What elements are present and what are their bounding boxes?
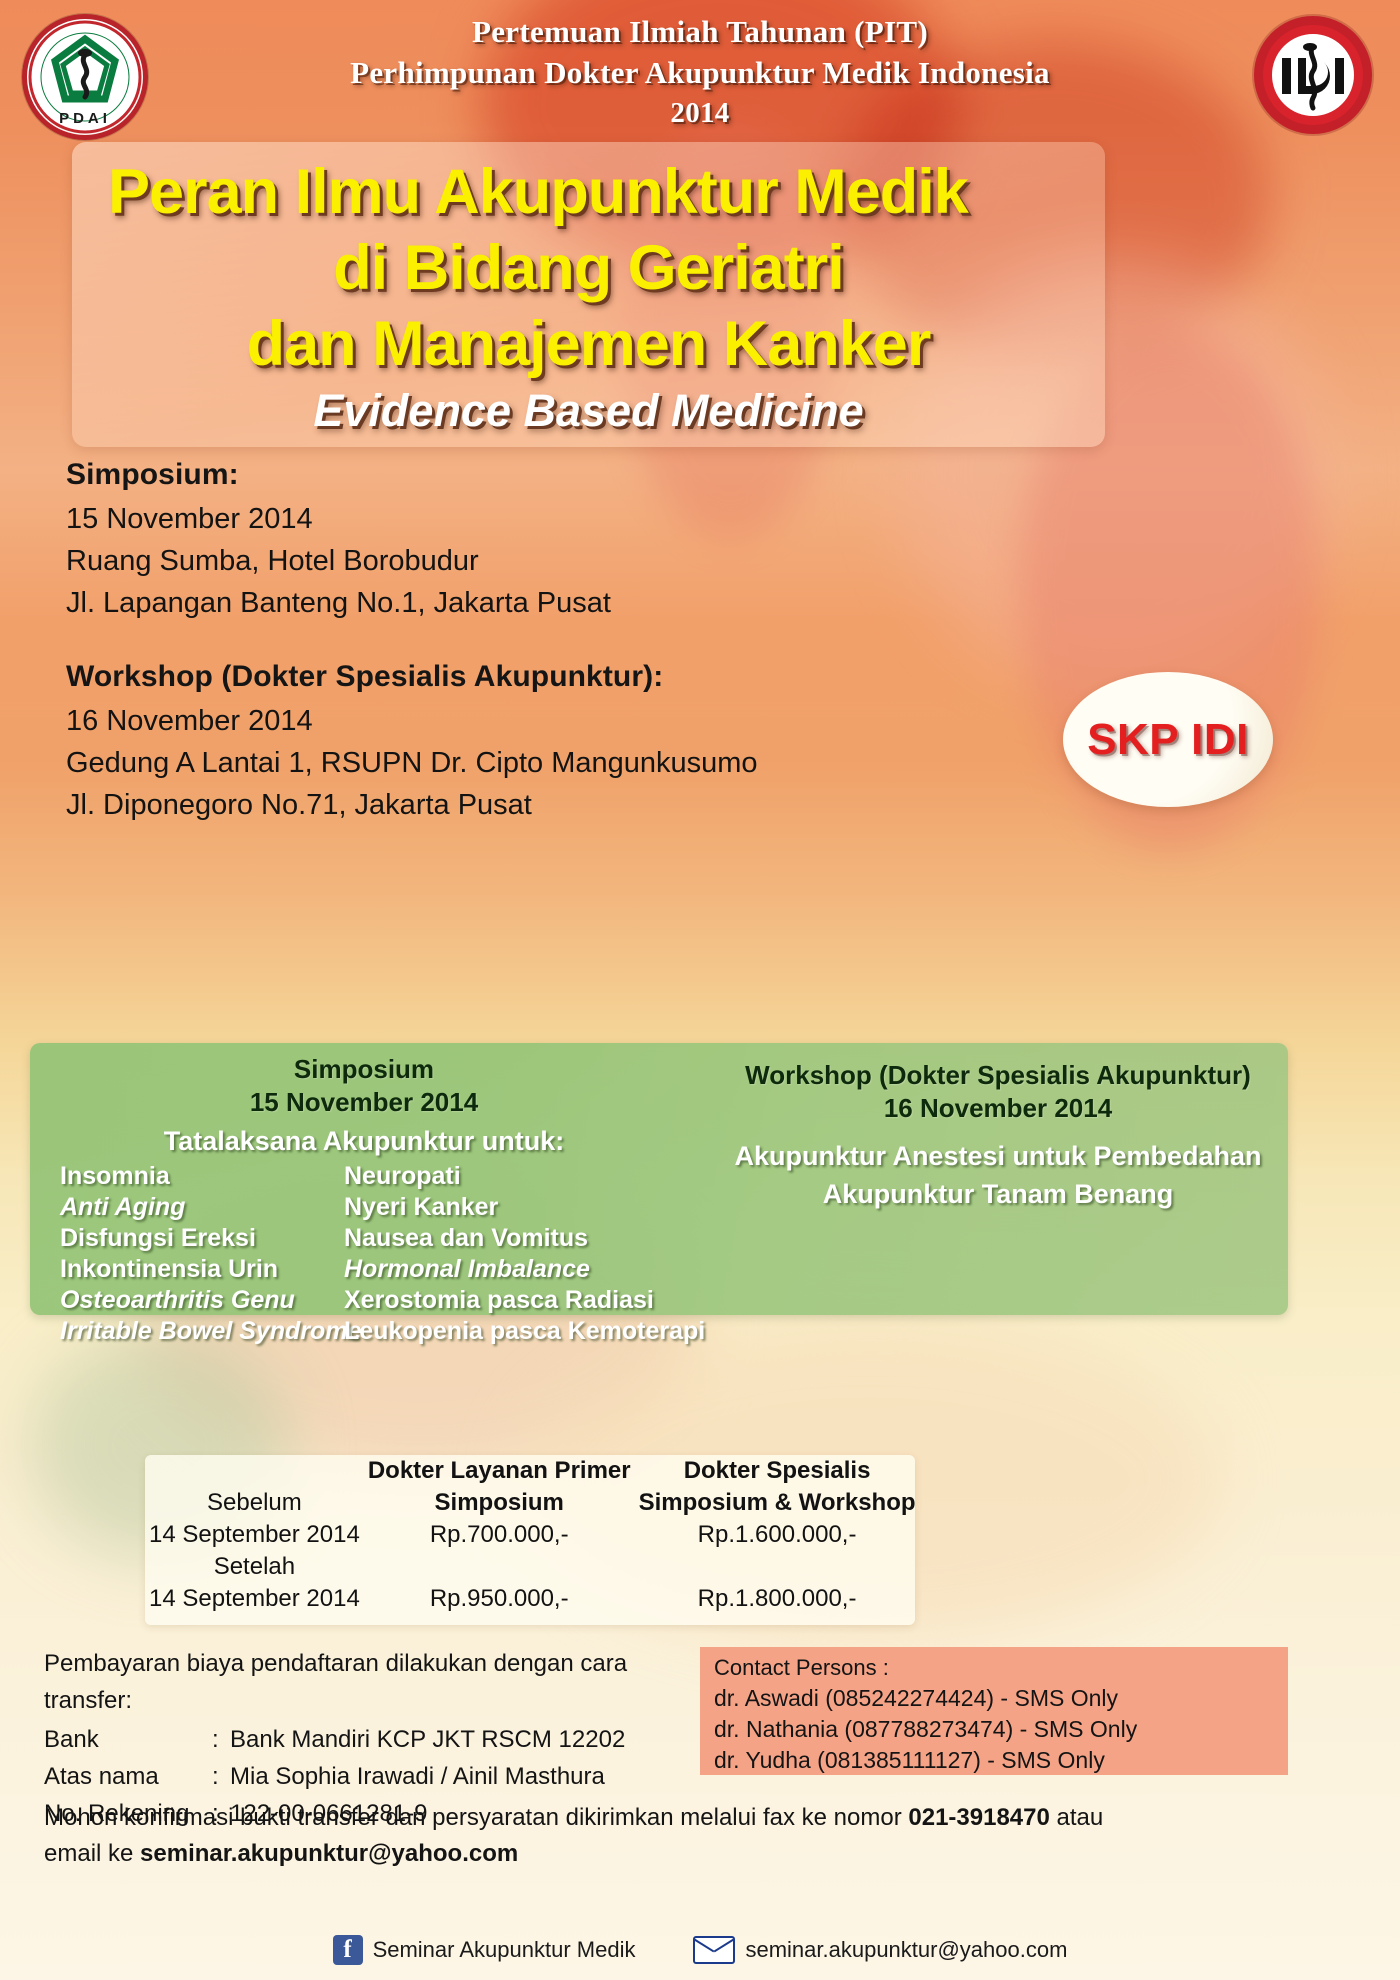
header-text-block: Pertemuan Ilmiah Tahunan (PIT) Perhimpun…	[170, 12, 1230, 132]
facebook-label: Seminar Akupunktur Medik	[373, 1937, 636, 1963]
table-row: Setelah	[145, 1551, 920, 1583]
payment-key-name: Atas nama	[44, 1758, 212, 1795]
price-row-2-period-label: Setelah	[145, 1551, 364, 1583]
envelope-icon[interactable]	[693, 1936, 735, 1964]
price-row-1-spesialis: Rp.1.600.000,-	[635, 1519, 920, 1551]
note-fax-number: 021-3918470	[908, 1804, 1049, 1831]
event-workshop-date: 16 November 2014	[66, 700, 966, 742]
facebook-icon[interactable]: f	[333, 1935, 363, 1965]
topics-workshop-title: Workshop (Dokter Spesialis Akupunktur)	[718, 1059, 1278, 1092]
confirmation-note-line-1: Mohon konfirmasi bukti transfer dan pers…	[44, 1800, 1334, 1836]
contact-heading: Contact Persons :	[714, 1653, 1274, 1683]
price-row-2-spesialis: Rp.1.800.000,-	[635, 1583, 920, 1615]
note-part-3: email ke	[44, 1840, 140, 1867]
contact-item: dr. Nathania (087788273474) - SMS Only	[714, 1714, 1274, 1745]
pdai-logo: PDAI	[22, 14, 148, 140]
payment-sep-name: :	[212, 1758, 230, 1795]
topics-symposium-col-1: Insomnia Anti Aging Disfungsi Ereksi Ink…	[44, 1161, 344, 1347]
topics-panel: Simposium 15 November 2014 Tatalaksana A…	[30, 1043, 1288, 1315]
price-row-2-primer: Rp.950.000,-	[364, 1583, 635, 1615]
note-part-2: atau	[1050, 1804, 1103, 1831]
event-workshop-heading: Workshop (Dokter Spesialis Akupunktur):	[66, 654, 966, 700]
topic-item: Nausea dan Vomitus	[344, 1223, 684, 1254]
topic-item: Hormonal Imbalance	[344, 1254, 684, 1285]
topic-item: Disfungsi Ereksi	[60, 1223, 344, 1254]
table-row: Dokter Layanan Primer Dokter Spesialis	[145, 1455, 920, 1487]
event-details: Simposium: 15 November 2014 Ruang Sumba,…	[66, 452, 966, 826]
price-header-spesialis-1: Dokter Spesialis	[635, 1455, 920, 1487]
event-workshop-address: Jl. Diponegoro No.71, Jakarta Pusat	[66, 784, 966, 826]
topics-symposium-title: Simposium	[44, 1053, 684, 1086]
header-line-1: Pertemuan Ilmiah Tahunan (PIT)	[170, 12, 1230, 52]
topic-item: Xerostomia pasca Radiasi	[344, 1285, 684, 1316]
payment-key-bank: Bank	[44, 1721, 212, 1758]
contact-item: dr. Aswadi (085242274424) - SMS Only	[714, 1683, 1274, 1714]
event-simposium-date: 15 November 2014	[66, 498, 966, 540]
title-panel: Peran Ilmu Akupunktur Medik di Bidang Ge…	[72, 142, 1105, 447]
confirmation-note-line-2: email ke seminar.akupunktur@yahoo.com	[44, 1836, 1334, 1872]
email-label: seminar.akupunktur@yahoo.com	[745, 1937, 1067, 1963]
contact-item: dr. Yudha (081385111127) - SMS Only	[714, 1745, 1274, 1776]
price-header-primer-1: Dokter Layanan Primer	[364, 1455, 635, 1487]
topic-item: Irritable Bowel Syndrome	[60, 1316, 344, 1347]
topics-symposium: Simposium 15 November 2014 Tatalaksana A…	[44, 1053, 684, 1347]
topics-symposium-columns: Insomnia Anti Aging Disfungsi Ereksi Ink…	[44, 1161, 684, 1347]
event-simposium-venue: Ruang Sumba, Hotel Borobudur	[66, 540, 966, 582]
workshop-topic-item: Akupunktur Anestesi untuk Pembedahan	[718, 1137, 1278, 1175]
facebook-entry[interactable]: f Seminar Akupunktur Medik	[333, 1935, 636, 1965]
price-header-period	[145, 1455, 364, 1487]
topics-symposium-date: 15 November 2014	[44, 1086, 684, 1119]
topics-workshop-date: 16 November 2014	[718, 1092, 1278, 1125]
idi-logo-ring	[1263, 25, 1363, 125]
title-line-3: dan Manajemen Kanker	[94, 306, 1083, 382]
price-table: Dokter Layanan Primer Dokter Spesialis S…	[145, 1455, 915, 1625]
event-simposium-heading: Simposium:	[66, 452, 966, 498]
table-row: 14 September 2014 Rp.950.000,- Rp.1.800.…	[145, 1583, 920, 1615]
topic-item: Nyeri Kanker	[344, 1192, 684, 1223]
price-row-1-primer: Rp.700.000,-	[364, 1519, 635, 1551]
idi-logo-artwork	[1276, 38, 1350, 112]
table-row: 14 September 2014 Rp.700.000,- Rp.1.600.…	[145, 1519, 920, 1551]
payment-intro: Pembayaran biaya pendaftaran dilakukan d…	[44, 1645, 704, 1719]
skp-idi-badge-label: SKP IDI	[1087, 715, 1249, 765]
price-header-primer-2: Simposium	[364, 1487, 635, 1519]
price-header-spesialis-2: Simposium & Workshop	[635, 1487, 920, 1519]
workshop-topic-item: Akupunktur Tanam Benang	[718, 1175, 1278, 1213]
topic-item: Anti Aging	[60, 1192, 344, 1223]
email-entry[interactable]: seminar.akupunktur@yahoo.com	[693, 1936, 1067, 1964]
payment-value-bank: Bank Mandiri KCP JKT RSCM 12202	[230, 1721, 625, 1758]
social-footer: f Seminar Akupunktur Medik seminar.akupu…	[0, 1920, 1400, 1980]
note-part-1: Mohon konfirmasi bukti transfer dan pers…	[44, 1804, 908, 1831]
note-email: seminar.akupunktur@yahoo.com	[140, 1840, 518, 1867]
svg-text:PDAI: PDAI	[59, 110, 111, 127]
topic-item: Inkontinensia Urin	[60, 1254, 344, 1285]
topic-item: Insomnia	[60, 1161, 344, 1192]
event-simposium: Simposium: 15 November 2014 Ruang Sumba,…	[66, 452, 966, 624]
contact-persons-box: Contact Persons : dr. Aswadi (0852422744…	[700, 1647, 1288, 1775]
skp-idi-badge: SKP IDI	[1063, 672, 1273, 807]
title-line-1: Peran Ilmu Akupunktur Medik	[94, 154, 1083, 230]
topics-symposium-col-2: Neuropati Nyeri Kanker Nausea dan Vomitu…	[344, 1161, 684, 1347]
topics-symposium-subtitle: Tatalaksana Akupunktur untuk:	[44, 1123, 684, 1159]
topic-item: Osteoarthritis Genu	[60, 1285, 344, 1316]
title-subtitle: Evidence Based Medicine	[94, 382, 1083, 440]
table-row: Sebelum Simposium Simposium & Workshop	[145, 1487, 920, 1519]
payment-row-name: Atas nama : Mia Sophia Irawadi / Ainil M…	[44, 1758, 704, 1795]
topic-item: Neuropati	[344, 1161, 684, 1192]
confirmation-note: Mohon konfirmasi bukti transfer dan pers…	[44, 1800, 1334, 1872]
price-row-1-period-date: 14 September 2014	[145, 1519, 364, 1551]
topic-item: Leukopenia pasca Kemoterapi	[344, 1316, 684, 1347]
payment-sep-bank: :	[212, 1721, 230, 1758]
idi-logo	[1254, 16, 1372, 134]
title-line-2: di Bidang Geriatri	[94, 230, 1083, 306]
header-line-3: 2014	[170, 94, 1230, 132]
pdai-logo-artwork: PDAI	[27, 19, 143, 135]
event-workshop: Workshop (Dokter Spesialis Akupunktur): …	[66, 654, 966, 826]
poster-header: PDAI Pertemuan Ilmiah Tahunan (PIT) Perh…	[0, 0, 1400, 140]
event-workshop-venue: Gedung A Lantai 1, RSUPN Dr. Cipto Mangu…	[66, 742, 966, 784]
price-table-grid: Dokter Layanan Primer Dokter Spesialis S…	[145, 1455, 920, 1615]
topics-workshop: Workshop (Dokter Spesialis Akupunktur) 1…	[718, 1059, 1278, 1213]
price-row-1-period-label: Sebelum	[145, 1487, 364, 1519]
header-line-2: Perhimpunan Dokter Akupunktur Medik Indo…	[170, 52, 1230, 94]
event-simposium-address: Jl. Lapangan Banteng No.1, Jakarta Pusat	[66, 582, 966, 624]
payment-value-name: Mia Sophia Irawadi / Ainil Masthura	[230, 1758, 605, 1795]
price-row-2-period-date: 14 September 2014	[145, 1583, 364, 1615]
payment-row-bank: Bank : Bank Mandiri KCP JKT RSCM 12202	[44, 1721, 704, 1758]
poster-canvas: PDAI Pertemuan Ilmiah Tahunan (PIT) Perh…	[0, 0, 1400, 1980]
